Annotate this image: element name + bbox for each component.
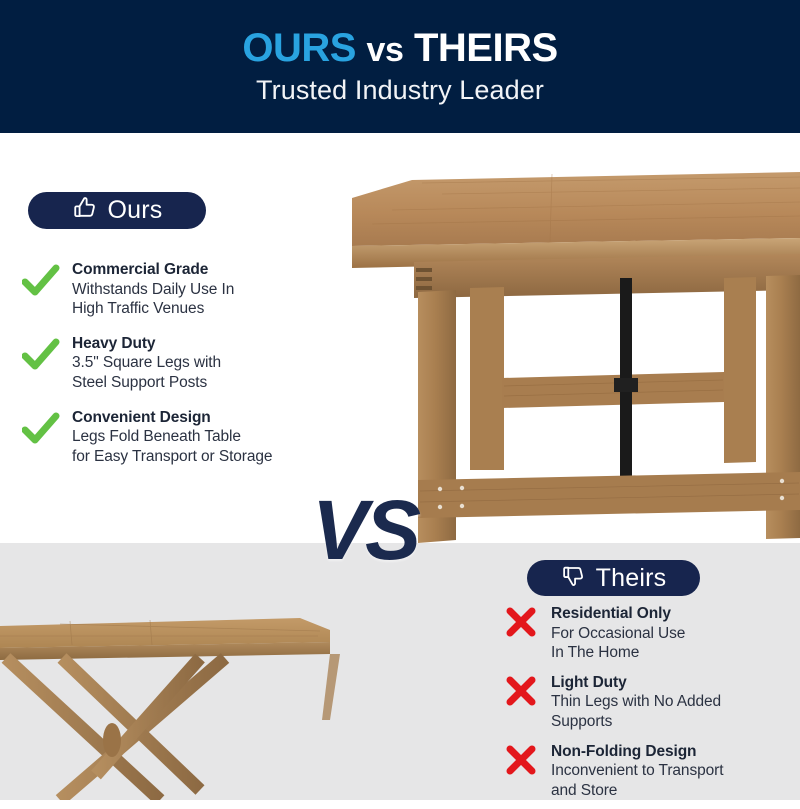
- red-x-icon: [505, 607, 539, 641]
- vs-divider-label: VS: [312, 488, 418, 572]
- feature-desc-line: and Store: [551, 781, 723, 800]
- ours-badge-label: Ours: [108, 196, 163, 225]
- list-item: Non-Folding Design Inconvenient to Trans…: [505, 740, 795, 800]
- feature-desc-line: For Occasional Use: [551, 624, 685, 643]
- list-item: Commercial Grade Withstands Daily Use In…: [22, 258, 342, 318]
- theirs-badge-label: Theirs: [596, 564, 667, 593]
- red-x-icon: [505, 676, 539, 710]
- feature-desc-line: In The Home: [551, 643, 685, 662]
- red-x-icon: [505, 745, 539, 779]
- header-banner: OURS vs THEIRS Trusted Industry Leader: [0, 0, 800, 133]
- page-subtitle: Trusted Industry Leader: [256, 75, 544, 106]
- feature-desc-line: Steel Support Posts: [72, 373, 221, 392]
- feature-desc-line: Inconvenient to Transport: [551, 761, 723, 780]
- title-theirs: THEIRS: [414, 26, 558, 70]
- feature-title: Heavy Duty: [72, 334, 221, 354]
- feature-title: Convenient Design: [72, 408, 272, 428]
- feature-desc-line: High Traffic Venues: [72, 299, 234, 318]
- page-title: OURS vs THEIRS: [242, 27, 557, 69]
- ours-product-image: [352, 150, 800, 543]
- theirs-product-image: [0, 600, 350, 800]
- feature-desc-line: Supports: [551, 712, 721, 731]
- feature-desc-line: for Easy Transport or Storage: [72, 447, 272, 466]
- feature-title: Residential Only: [551, 604, 685, 624]
- green-check-icon: [22, 338, 60, 378]
- title-ours: OURS: [242, 26, 356, 70]
- theirs-feature-list: Residential Only For Occasional Use In T…: [505, 602, 795, 809]
- list-item: Heavy Duty 3.5" Square Legs with Steel S…: [22, 332, 342, 392]
- title-vs: vs: [367, 31, 404, 69]
- feature-desc-line: Thin Legs with No Added: [551, 692, 721, 711]
- feature-desc-line: 3.5" Square Legs with: [72, 353, 221, 372]
- green-check-icon: [22, 412, 60, 452]
- feature-title: Commercial Grade: [72, 260, 234, 280]
- ours-badge: Ours: [28, 192, 206, 229]
- ours-feature-list: Commercial Grade Withstands Daily Use In…: [22, 258, 342, 480]
- feature-title: Light Duty: [551, 673, 721, 693]
- theirs-badge: Theirs: [527, 560, 700, 596]
- feature-desc-line: Legs Fold Beneath Table: [72, 427, 272, 446]
- list-item: Convenient Design Legs Fold Beneath Tabl…: [22, 406, 342, 466]
- green-check-icon: [22, 264, 60, 304]
- list-item: Residential Only For Occasional Use In T…: [505, 602, 795, 662]
- thumbs-down-icon: [561, 563, 586, 593]
- thumbs-up-icon: [72, 195, 98, 226]
- feature-desc-line: Withstands Daily Use In: [72, 280, 234, 299]
- list-item: Light Duty Thin Legs with No Added Suppo…: [505, 671, 795, 731]
- feature-title: Non-Folding Design: [551, 742, 723, 762]
